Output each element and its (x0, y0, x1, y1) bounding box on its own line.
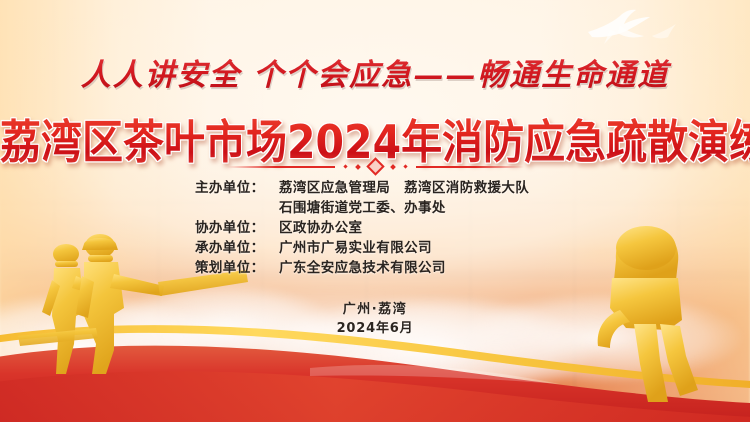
poster-subtitle: 人人讲安全 个个会应急——畅通生命通道 (0, 50, 750, 94)
organizer-value: 荔湾区应急管理局 荔湾区消防救援大队 (279, 178, 555, 198)
organizer-value: 石围塘街道党工委、办事处 (279, 198, 555, 218)
organizer-value: 广东全安应急技术有限公司 (279, 258, 555, 278)
place-and-date: 广州·荔湾 2024年6月 (0, 300, 750, 339)
divider-dot-right-small (403, 164, 407, 168)
organizer-value: 区政协办公室 (279, 218, 555, 238)
divider-ornament (0, 160, 750, 173)
divider-rule-right (416, 166, 524, 168)
organizer-row: 主办单位： 荔湾区应急管理局 荔湾区消防救援大队 (195, 178, 555, 198)
poster-content: 人人讲安全 个个会应急——畅通生命通道 荔湾区茶叶市场2024年消防应急疏散演练… (0, 0, 750, 422)
date-text: 2024年6月 (0, 319, 750, 339)
divider-dot-right (390, 164, 396, 170)
organizer-label: 主办单位： (195, 178, 279, 198)
place-text: 广州·荔湾 (0, 300, 750, 319)
organizer-row: 策划单位： 广东全安应急技术有限公司 (195, 258, 555, 278)
organizer-list: 主办单位： 荔湾区应急管理局 荔湾区消防救援大队 主办单位： 石围塘街道党工委、… (0, 178, 750, 278)
divider-dot-left-small (343, 164, 347, 168)
organizer-row: 协办单位： 区政协办公室 (195, 218, 555, 238)
organizer-row: 主办单位： 石围塘街道党工委、办事处 (195, 198, 555, 218)
poster-canvas: 人人讲安全 个个会应急——畅通生命通道 荔湾区茶叶市场2024年消防应急疏散演练… (0, 0, 750, 422)
organizer-label: 策划单位： (195, 258, 279, 278)
organizer-row: 承办单位： 广州市广易实业有限公司 (195, 238, 555, 258)
organizer-label: 协办单位： (195, 218, 279, 238)
organizer-value: 广州市广易实业有限公司 (279, 238, 555, 258)
organizer-label: 承办单位： (195, 238, 279, 258)
divider-rule-left (227, 166, 335, 168)
divider-dot-left (355, 164, 361, 170)
diamond-ornament-icon (366, 157, 384, 175)
